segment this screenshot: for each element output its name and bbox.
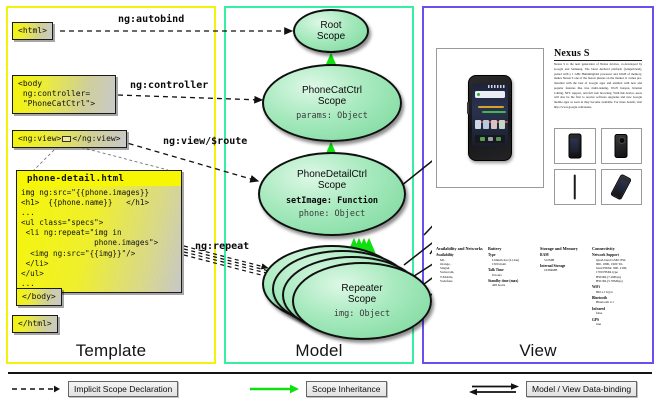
diagram-canvas: Template Model View (0, 0, 660, 420)
phone-hero-image-frame (436, 48, 544, 188)
scope-phonecatctrl: PhoneCatCtrl Scope params: Object (262, 64, 402, 142)
spec-val-infrared-0: false (592, 311, 642, 315)
phone-wallpaper-line-1 (478, 106, 504, 108)
phone-wallpaper-line-2 (482, 111, 506, 113)
scope-repeater-line2: Scope (348, 294, 376, 305)
phone-search-widget (475, 91, 505, 98)
view-page-description: Nexus S is the next generation of Nexus … (554, 62, 642, 124)
phone-app-row (475, 120, 505, 130)
scope-phonecatctrl-line1: PhoneCatCtrl (302, 85, 362, 96)
ngview-open-label: <ng:view> (18, 134, 61, 143)
scope-phonecatctrl-line2: Scope (318, 96, 346, 107)
scope-phonecatctrl-prop-params: params: Object (296, 111, 368, 121)
column-template-label: Template (8, 341, 214, 361)
scope-phonedetailctrl-prop-phone: phone: Object (299, 209, 366, 219)
body-close-tag-box: </body> (16, 288, 62, 306)
spec-val-bluetooth-0: Bluetooth 2.1 (592, 300, 642, 304)
thumbnail-phone-angled[interactable] (601, 169, 643, 205)
phone-navbar (475, 135, 505, 143)
view-thumbnail-grid (554, 128, 642, 205)
phone-detail-filename: phone-detail.html (17, 171, 181, 186)
scope-root-line1: Root (320, 20, 341, 31)
spec-val-storage-ram-0: 512MB (540, 258, 590, 262)
spec-column-battery: Battery Type Lithium Ion (Li-Ion) 1500 m… (488, 246, 538, 326)
html-tag-box: <html> (12, 22, 53, 40)
legend-divider (8, 372, 652, 374)
thumbnail-phone-front[interactable] (554, 128, 596, 164)
phone-statusbar-icon (488, 85, 506, 88)
ngview-placeholder-icon (62, 136, 71, 142)
spec-val-battery-talk-0: 6 hours (488, 273, 538, 277)
dashed-arrow-icon (10, 382, 62, 396)
ngview-close-label: </ng:view> (72, 134, 120, 143)
scope-repeater: Repeater Scope img: Object (292, 262, 432, 340)
legend-item-inheritance: Scope Inheritance (248, 381, 387, 397)
label-ng-repeat: ng:repeat (195, 241, 249, 252)
legend-label-implicit: Implicit Scope Declaration (68, 381, 178, 397)
spec-val-network-5: HSUPA (5.76Mbps) (592, 279, 642, 283)
thumbnail-phone-side[interactable] (554, 169, 596, 205)
legend-label-inheritance: Scope Inheritance (306, 381, 387, 397)
legend-label-databinding: Model / View Data-binding (526, 381, 637, 397)
spec-column-availability: Availability and Networks Availability M… (436, 246, 486, 326)
column-view-label: View (424, 341, 652, 361)
scope-repeater-prop-img: img: Object (334, 309, 390, 319)
label-ng-controller: ng:controller (130, 80, 208, 91)
scope-repeater-line1: Repeater (341, 283, 382, 294)
phone-device-image (468, 75, 512, 161)
scope-phonedetailctrl-line2: Scope (318, 180, 346, 191)
html-close-tag-box: </html> (12, 315, 58, 333)
spec-val-wifi-0: 802.11 b/g/n (592, 290, 642, 294)
spec-val-storage-internal-0: 16384MB (540, 268, 590, 272)
view-spec-table: Availability and Networks Availability M… (436, 246, 642, 326)
spec-heading-availability: Availability and Networks (436, 246, 486, 251)
phone-detail-template-callout: phone-detail.html img ng:src="{{phone.im… (16, 170, 182, 293)
column-model-label: Model (226, 341, 412, 361)
legend-item-implicit: Implicit Scope Declaration (10, 381, 178, 397)
spec-heading-storage: Storage and Memory (540, 246, 590, 251)
view-description-text: Nexus S is the next generation of Nexus … (554, 62, 642, 110)
view-page-title: Nexus S (554, 48, 642, 61)
scope-root: Root Scope (293, 9, 369, 53)
legend-item-databinding: Model / View Data-binding (468, 381, 637, 397)
scope-phonedetailctrl-prop-setimage: setImage: Function (286, 196, 378, 206)
spec-column-connectivity: Connectivity Network Support Quad-band G… (592, 246, 642, 326)
spec-val-battery-type-1: 1500 mAh (488, 262, 538, 266)
spec-column-storage: Storage and Memory RAM 512MB Internal St… (540, 246, 590, 326)
body-tag-box: <body ng:controller= "PhoneCatCtrl"> (12, 75, 116, 114)
label-ng-autobind: ng:autobind (118, 14, 184, 25)
spec-val-gps-0: true (592, 322, 642, 326)
double-arrow-icon (468, 382, 520, 396)
phone-screen (472, 84, 508, 146)
scope-phonedetailctrl-line1: PhoneDetailCtrl (297, 169, 367, 180)
spec-val-availability-6: Vodafone (436, 279, 486, 283)
ngview-tag-box: <ng:view></ng:view> (12, 130, 127, 148)
spec-heading-connectivity: Connectivity (592, 246, 642, 251)
spec-val-battery-standby-0: 428 hours (488, 283, 538, 287)
spec-heading-battery: Battery (488, 246, 538, 251)
label-ng-view-route: ng:view/$route (163, 136, 247, 147)
thumbnail-phone-back[interactable] (601, 128, 643, 164)
scope-phonedetailctrl: PhoneDetailCtrl Scope setImage: Function… (258, 152, 406, 236)
phone-detail-code: img ng:src="{{phone.images}} <h1> {{phon… (17, 186, 181, 292)
rendered-page: Nexus S Nexus S is the next generation o… (432, 18, 644, 334)
phone-volume-button-icon (467, 102, 469, 114)
green-arrow-icon (248, 382, 300, 396)
scope-root-line2: Scope (317, 31, 345, 42)
